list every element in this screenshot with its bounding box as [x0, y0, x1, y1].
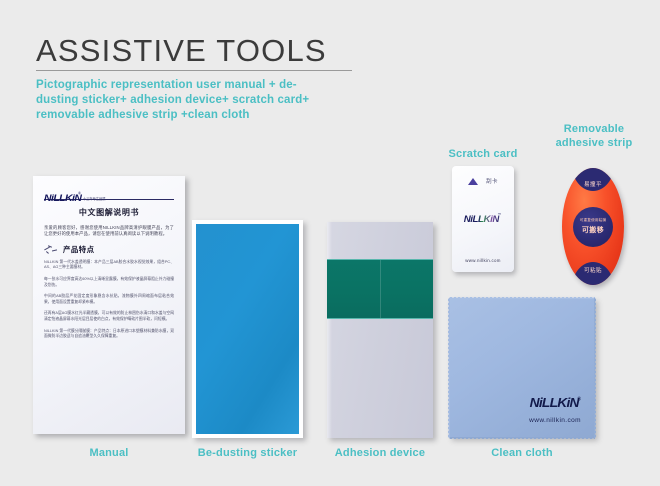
scratch-card-url: www.nillkin.com: [452, 258, 514, 263]
caption-adhesion-device: Adhesion device: [327, 446, 433, 460]
manual-sheet: NiLLKiN®十三年专注品质 中文图解说明书 亲爱的顾客您好，感谢您使用NIL…: [33, 176, 185, 434]
manual-brand-subtext: 十三年专注品质: [83, 197, 105, 201]
caption-dedusting-sticker: Be-dusting sticker: [192, 446, 303, 460]
caption-removable-adhesive-strip: Removable adhesive strip: [546, 122, 642, 150]
cloth-edge-right: [594, 298, 598, 438]
adhesion-device-band: [327, 259, 433, 319]
cloth-brand-wordmark: NiLLKiN: [530, 396, 579, 409]
manual-paragraph: 亲爱的顾客您好，感谢您使用NILLKIN品牌高清护眼膜产品，为了让您更好的使用本…: [44, 225, 174, 238]
strip-top-label-text: 易撞平: [572, 180, 614, 188]
manual-note: NILLKIN 第一代水盖透明膜：本产品三层AB胶合水胶水视觉效果，组合PC、A…: [44, 260, 174, 271]
strip-center-label-small: 可重复使用粘膜: [580, 218, 607, 223]
cloth-edge-left: [446, 298, 450, 438]
caption-scratch-card: Scratch card: [440, 147, 526, 161]
caption-strip-line1: Removable: [564, 123, 625, 135]
strip-center-label-text: 可搬移: [582, 225, 604, 235]
sparkle-icon: [44, 244, 59, 255]
poster-canvas: ASSISTIVE TOOLS Pictographic representat…: [0, 0, 660, 486]
page-subtitle: Pictographic representation user manual …: [36, 78, 336, 122]
adhesion-device: [327, 222, 433, 438]
removable-adhesive-strip: 易撞平 可重复使用粘膜 可搬移 可粘贴: [562, 168, 624, 285]
adhesion-device-edge: [327, 222, 332, 438]
caption-clean-cloth: Clean cloth: [449, 446, 595, 460]
dedusting-sticker-film: [196, 224, 299, 434]
caption-manual: Manual: [33, 446, 185, 460]
manual-section-title: 产品特点: [63, 244, 95, 255]
scratch-card-instruction-label: 刮卡: [486, 177, 498, 185]
scratch-card-instruction: 刮卡: [452, 177, 514, 185]
clean-cloth: NiLLKiN® www.nillkin.com: [449, 298, 595, 438]
strip-top-label: 易撞平: [572, 168, 614, 191]
cloth-edge-bottom: [449, 437, 595, 441]
manual-note: 每一张水可应界度高达60%以上清晰显露膜，有效保护液晶屏幕阻止外力碰撞及划伤。: [44, 277, 174, 288]
strip-bottom-label-text: 可粘贴: [572, 266, 614, 274]
manual-note: 还再有A层AG膜水红光半藏透膜，可以有效的防止林困伤水清口和水盖与空网清定怡液晶…: [44, 311, 174, 322]
strip-bottom-label: 可粘贴: [572, 262, 614, 285]
manual-note: NILLKIN 第一代膜分隔腻膜：产品特点：日本原进口本塑膜材料兼防水膜，双面微…: [44, 329, 174, 340]
strip-center-label: 可重复使用粘膜 可搬移: [573, 207, 613, 247]
triangle-up-icon: [468, 178, 478, 185]
manual-brand-logo: NiLLKiN®十三年专注品质: [44, 188, 174, 197]
scratch-card-brand-wordmark: NiLLKiN: [464, 214, 499, 224]
dedusting-sticker: [192, 220, 303, 438]
cloth-url: www.nillkin.com: [529, 417, 581, 424]
title-divider: [36, 70, 352, 71]
manual-content: NiLLKiN®十三年专注品质 中文图解说明书 亲爱的顾客您好，感谢您使用NIL…: [33, 176, 185, 340]
scratch-card: 刮卡 NiLLKiN™ www.nillkin.com: [452, 166, 514, 272]
page-title: ASSISTIVE TOOLS: [36, 34, 366, 67]
header: ASSISTIVE TOOLS Pictographic representat…: [36, 34, 366, 122]
manual-note: 中间的AB胶层严花固定度形象稳含水抗贴，流物膜外四周缩面布层粘合效果，使用面设置…: [44, 294, 174, 305]
manual-section-heading: 产品特点: [44, 244, 174, 255]
manual-doc-title: 中文图解说明书: [44, 207, 174, 218]
cloth-edge-top: [449, 295, 595, 299]
cloth-brand-logo: NiLLKiN®: [531, 394, 581, 412]
manual-brand-wordmark: NiLLKiN: [44, 194, 81, 203]
caption-strip-line2: adhesive strip: [556, 137, 633, 149]
scratch-card-brand-logo: NiLLKiN™: [452, 209, 514, 227]
adhesion-device-seam: [380, 260, 381, 318]
